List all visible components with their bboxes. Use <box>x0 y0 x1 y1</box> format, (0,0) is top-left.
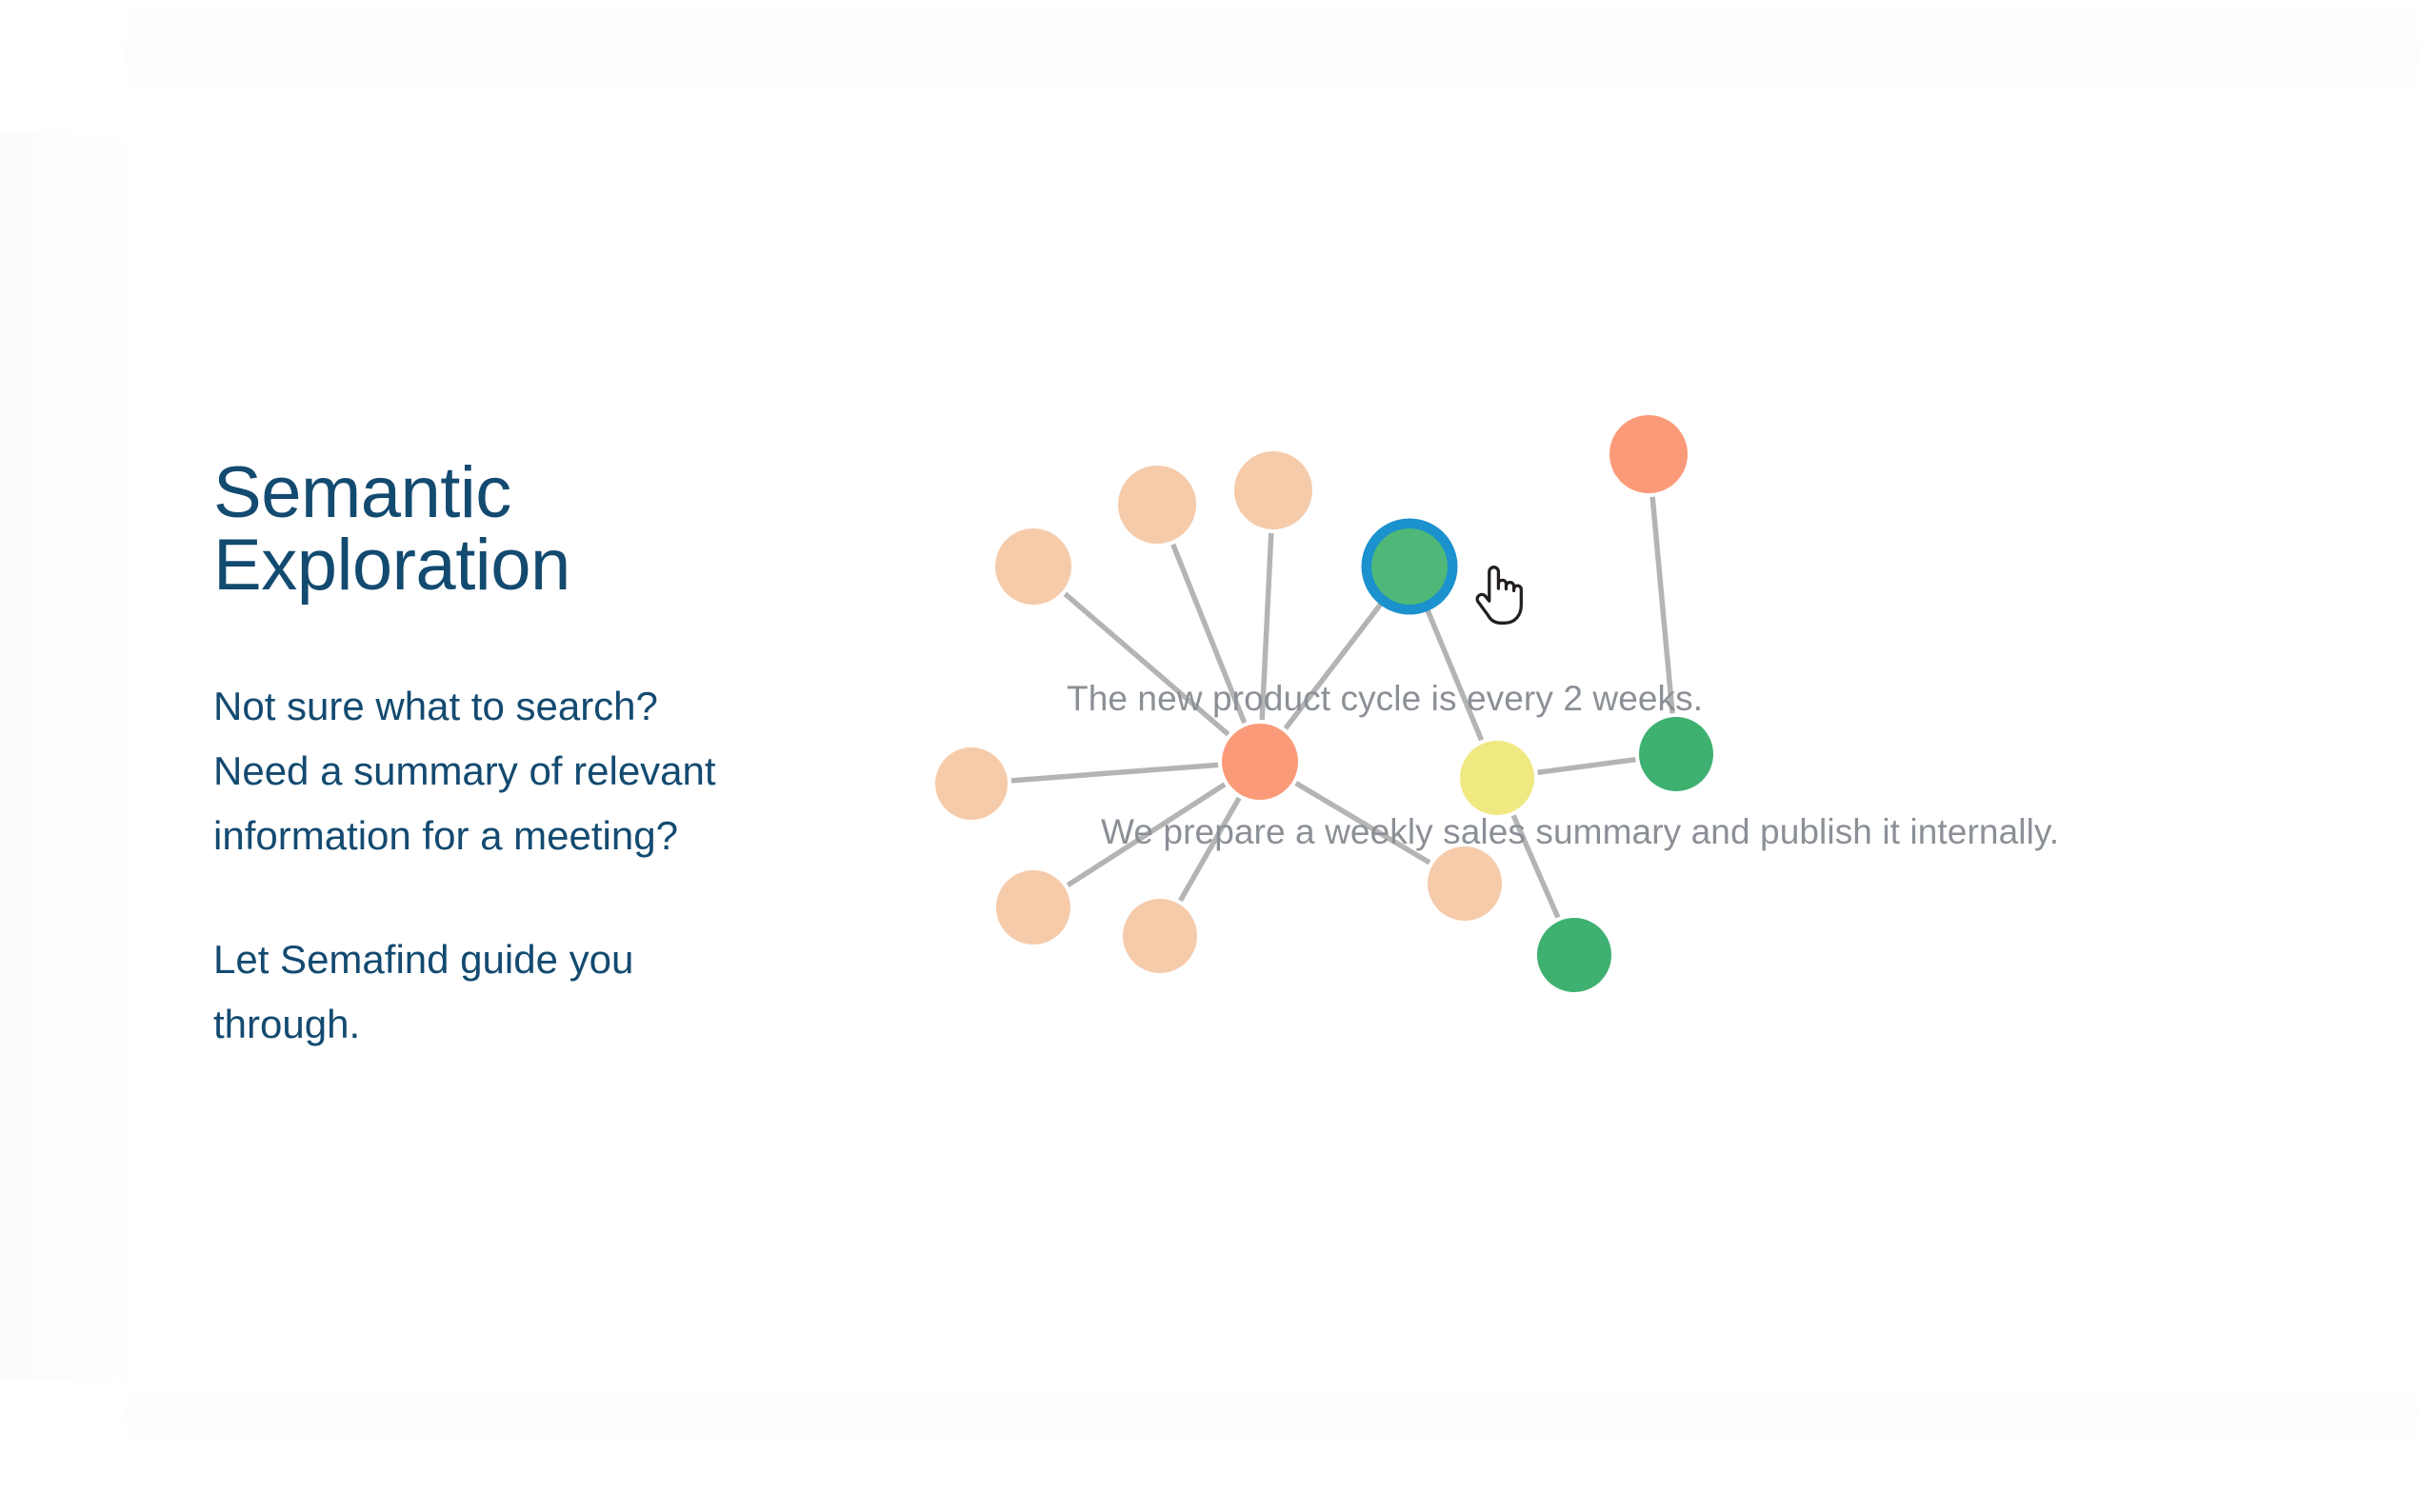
graph-node[interactable] <box>996 870 1070 945</box>
graph-edge <box>1538 760 1636 773</box>
text-column: Semantic Exploration Not sure what to se… <box>213 457 937 1057</box>
graph-node[interactable] <box>1222 724 1298 800</box>
graph-node[interactable] <box>1609 415 1688 493</box>
page-title: Semantic Exploration <box>213 457 937 602</box>
intro-paragraph-cta: Let Semafind guide you through. <box>213 927 937 1057</box>
background-artifact-bottom <box>124 1385 2419 1442</box>
graph-canvas[interactable] <box>914 362 2400 1181</box>
background-artifact-left <box>0 133 133 1381</box>
graph-node[interactable] <box>1234 451 1312 529</box>
graph-node-selected[interactable] <box>1371 528 1448 605</box>
background-artifact-edge <box>122 143 124 1381</box>
graph-node-label-top: The new product cycle is every 2 weeks. <box>1067 679 1703 719</box>
graph-node[interactable] <box>1118 466 1196 544</box>
graph-edge <box>1426 606 1482 741</box>
background-artifact-top <box>124 0 2419 91</box>
graph-node[interactable] <box>1123 899 1197 973</box>
graph-node[interactable] <box>935 747 1008 820</box>
graph-node[interactable] <box>1428 846 1502 921</box>
graph-node[interactable] <box>1639 717 1713 791</box>
intro-paragraph-questions: Not sure what to search? Need a summary … <box>213 674 937 868</box>
graph-node-label-bottom: We prepare a weekly sales summary and pu… <box>1101 812 2059 852</box>
graph-edge <box>1011 765 1218 780</box>
slide-root: Semantic Exploration Not sure what to se… <box>0 0 2419 1512</box>
graph-node[interactable] <box>1460 741 1534 815</box>
graph-node[interactable] <box>995 528 1071 605</box>
semantic-graph[interactable]: The new product cycle is every 2 weeks. … <box>914 362 2400 1181</box>
graph-node[interactable] <box>1537 918 1611 992</box>
